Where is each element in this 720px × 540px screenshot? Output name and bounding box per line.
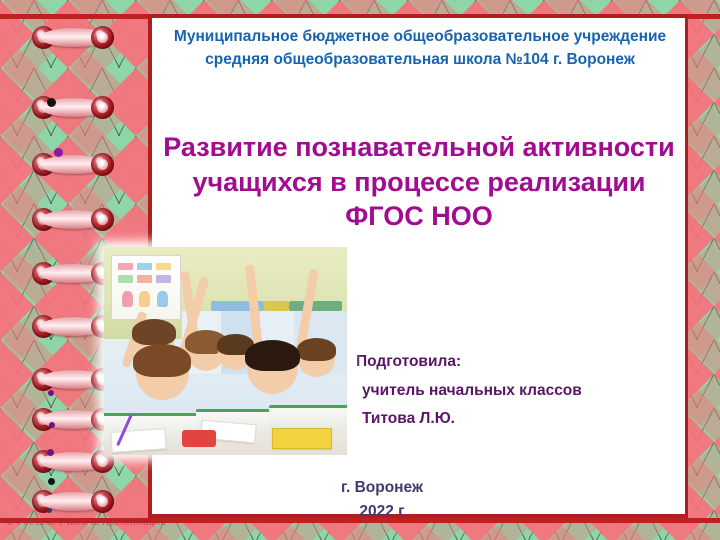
presentation-slide: Муниципальное бюджетное общеобразователь… xyxy=(0,0,720,540)
bullet-dot xyxy=(47,508,52,513)
photo-wall-poster xyxy=(111,255,181,319)
bullet-dot xyxy=(48,390,54,396)
page-title: Развитие познавательной активности учащи… xyxy=(152,130,686,234)
city-label: г. Воронеж xyxy=(152,476,612,500)
title-line-3: ФГОС НОО xyxy=(152,199,686,234)
author-prepared-by-label: Подготовила: xyxy=(356,348,676,377)
place-and-year-block: г. Воронеж 2022 г xyxy=(152,476,612,524)
school-name-line-2: средняя общеобразовательная школа №104 г… xyxy=(160,48,680,71)
binding-ring-cap-right xyxy=(91,208,114,231)
binding-ring xyxy=(32,315,114,338)
binding-ring xyxy=(32,26,114,49)
binding-ring xyxy=(32,450,114,473)
photo-shelf-green xyxy=(289,301,342,311)
corner-watermark: © Сделано Учитель Презентаций xyxy=(6,518,136,527)
author-name: Титова Л.Ю. xyxy=(356,405,676,434)
binding-ring-cap-right xyxy=(91,26,114,49)
title-line-1: Развитие познавательной активности xyxy=(163,132,675,162)
bullet-dot xyxy=(48,478,55,485)
binding-ring-cap-right xyxy=(91,490,114,513)
year-label: 2022 г xyxy=(152,500,612,524)
binding-ring xyxy=(32,208,114,231)
binding-ring xyxy=(32,490,114,513)
binding-ring xyxy=(32,96,114,119)
author-block: Подготовила: учитель начальных классов Т… xyxy=(356,348,676,434)
classroom-photo-frame xyxy=(104,247,347,455)
classroom-photo xyxy=(104,247,347,455)
binding-ring-cap-right xyxy=(91,153,114,176)
photo-notebook-yellow xyxy=(272,428,332,449)
photo-shelf-yellow xyxy=(264,301,288,311)
title-line-2: учащихся в процессе реализации xyxy=(192,167,645,197)
school-name-line-1: Муниципальное бюджетное общеобразователь… xyxy=(174,28,666,45)
school-name-header: Муниципальное бюджетное общеобразователь… xyxy=(160,25,680,72)
binding-ring xyxy=(32,153,114,176)
photo-pencil-case xyxy=(182,430,216,447)
bullet-dot xyxy=(54,148,63,157)
bullet-dot xyxy=(49,422,55,428)
bullet-dot xyxy=(47,449,54,456)
binding-ring-cap-right xyxy=(91,96,114,119)
binding-ring xyxy=(32,262,114,285)
bullet-dot xyxy=(47,98,56,107)
binding-ring xyxy=(32,408,114,431)
author-role: учитель начальных классов xyxy=(356,377,676,406)
binding-ring xyxy=(32,368,114,391)
